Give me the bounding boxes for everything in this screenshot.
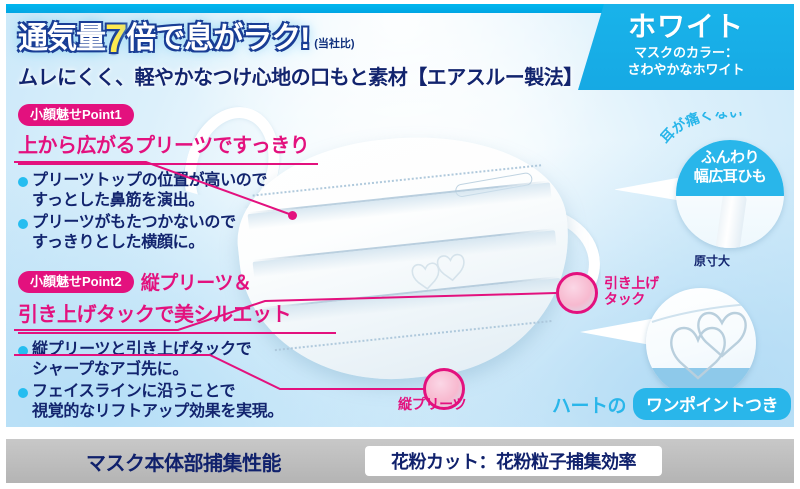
bullet-dot-icon [18,346,28,356]
color-flag-subtitle-line1: マスクのカラー： [578,45,794,61]
advertisement-page: ホワイト マスクのカラー： さわやかなホワイト 通気量 7 倍で息がラク! (当… [0,0,800,489]
headline-block: 通気量 7 倍で息がラク! (当社比) ムレにくく、軽やかなつけ心地の口もと素材… [18,22,583,90]
point2-bullets: 縦プリーツと引き上げタックで シャープなアゴ先に。 フェイスラインに沿うことで … [18,340,336,422]
point2-divider [18,332,336,334]
point1-badge-row: 小顔魅せPoint1 [18,104,318,126]
heart-caption-chip: ワンポイントつき [633,388,791,420]
point2-badge-row: 小顔魅せPoint2 縦プリーツ＆ [18,268,336,295]
mask-color-flag: ホワイト マスクのカラー： さわやかなホワイト [578,4,794,90]
point1-bullets: プリーツトップの位置が高いので すっとした鼻筋を演出。 プリーツがもたつかないの… [18,171,318,253]
actual-size-note: 原寸大 [694,252,730,269]
point2-bullet-1: 縦プリーツと引き上げタックで シャープなアゴ先に。 [32,340,251,380]
color-flag-title: ホワイト [578,10,794,44]
footer-left-label: マスク本体部捕集性能 [6,447,361,476]
list-item: プリーツがもたつかないので すっきりとした横顔に。 [18,213,318,253]
list-item: フェイスラインに沿うことで 視覚的なリフトアップ効果を実現。 [18,382,336,422]
ear-loop-zoom-bubble: ふんわり 幅広耳ひも [676,140,784,248]
point1-bullet-1: プリーツトップの位置が高いので すっとした鼻筋を演出。 [32,171,267,211]
marker-lift-tuck [556,272,598,314]
ear-loop-strap-closeup [715,193,747,248]
point2-heading-inline: 縦プリーツ＆ [141,268,252,295]
headline-main-part1: 通気量 [18,22,105,56]
point1-badge: 小顔魅せPoint1 [18,104,134,126]
point2-heading: 引き上げタックで美シルエット [18,298,336,327]
headline-footnote: (当社比) [314,35,354,51]
point1-heading: 上から広がるプリーツですっきり [18,129,318,158]
subheadline: ムレにくく、軽やかなつけ心地の口もと素材【エアスルー製法】 [18,61,583,90]
label-vertical-pleat: 縦プリーツ [398,396,466,412]
heart-closeup-icon [646,288,756,398]
heart-emboss-icon [404,247,478,292]
list-item: プリーツトップの位置が高いので すっとした鼻筋を演出。 [18,171,318,211]
leader-endpoint-pleat-top [288,211,297,220]
point2-badge: 小顔魅せPoint2 [18,271,134,293]
point-block-2: 小顔魅せPoint2 縦プリーツ＆ 引き上げタックで美シルエット 縦プリーツと引… [18,268,336,424]
point1-bullet-2: プリーツがもたつかないので すっきりとした横顔に。 [32,213,236,253]
bullet-dot-icon [18,388,28,398]
heart-caption-prefix: ハートの [552,391,626,418]
list-item: 縦プリーツと引き上げタックで シャープなアゴ先に。 [18,340,336,380]
point-block-1: 小顔魅せPoint1 上から広がるプリーツですっきり プリーツトップの位置が高い… [18,104,318,255]
ear-loop-arc-text: 耳が痛くない [660,112,800,152]
ear-loop-arc-label: 耳が痛くない [660,112,743,146]
ear-loop-caption-line2: 幅広耳ひも [676,167,784,186]
footer-bar: マスク本体部捕集性能 花粉カット：花粉粒子捕集効率 [6,439,794,483]
svg-text:耳が痛くない: 耳が痛くない [660,112,743,146]
footer-chip-label: 花粉カット：花粉粒子捕集効率 [365,446,662,476]
headline-row: 通気量 7 倍で息がラク! (当社比) [18,22,583,56]
bullet-dot-icon [18,177,28,187]
bullet-dot-icon [18,219,28,229]
point1-divider [18,163,318,165]
headline-number: 7 [105,22,126,56]
heart-zoom-bubble [646,288,756,398]
color-flag-subtitle-line2: さわやかなホワイト [578,62,794,78]
point2-bullet-2: フェイスラインに沿うことで 視覚的なリフトアップ効果を実現。 [32,382,283,422]
headline-main-part2: 倍で息がラク! [126,22,309,56]
heart-caption-row: ハートの ワンポイントつき [552,388,791,420]
